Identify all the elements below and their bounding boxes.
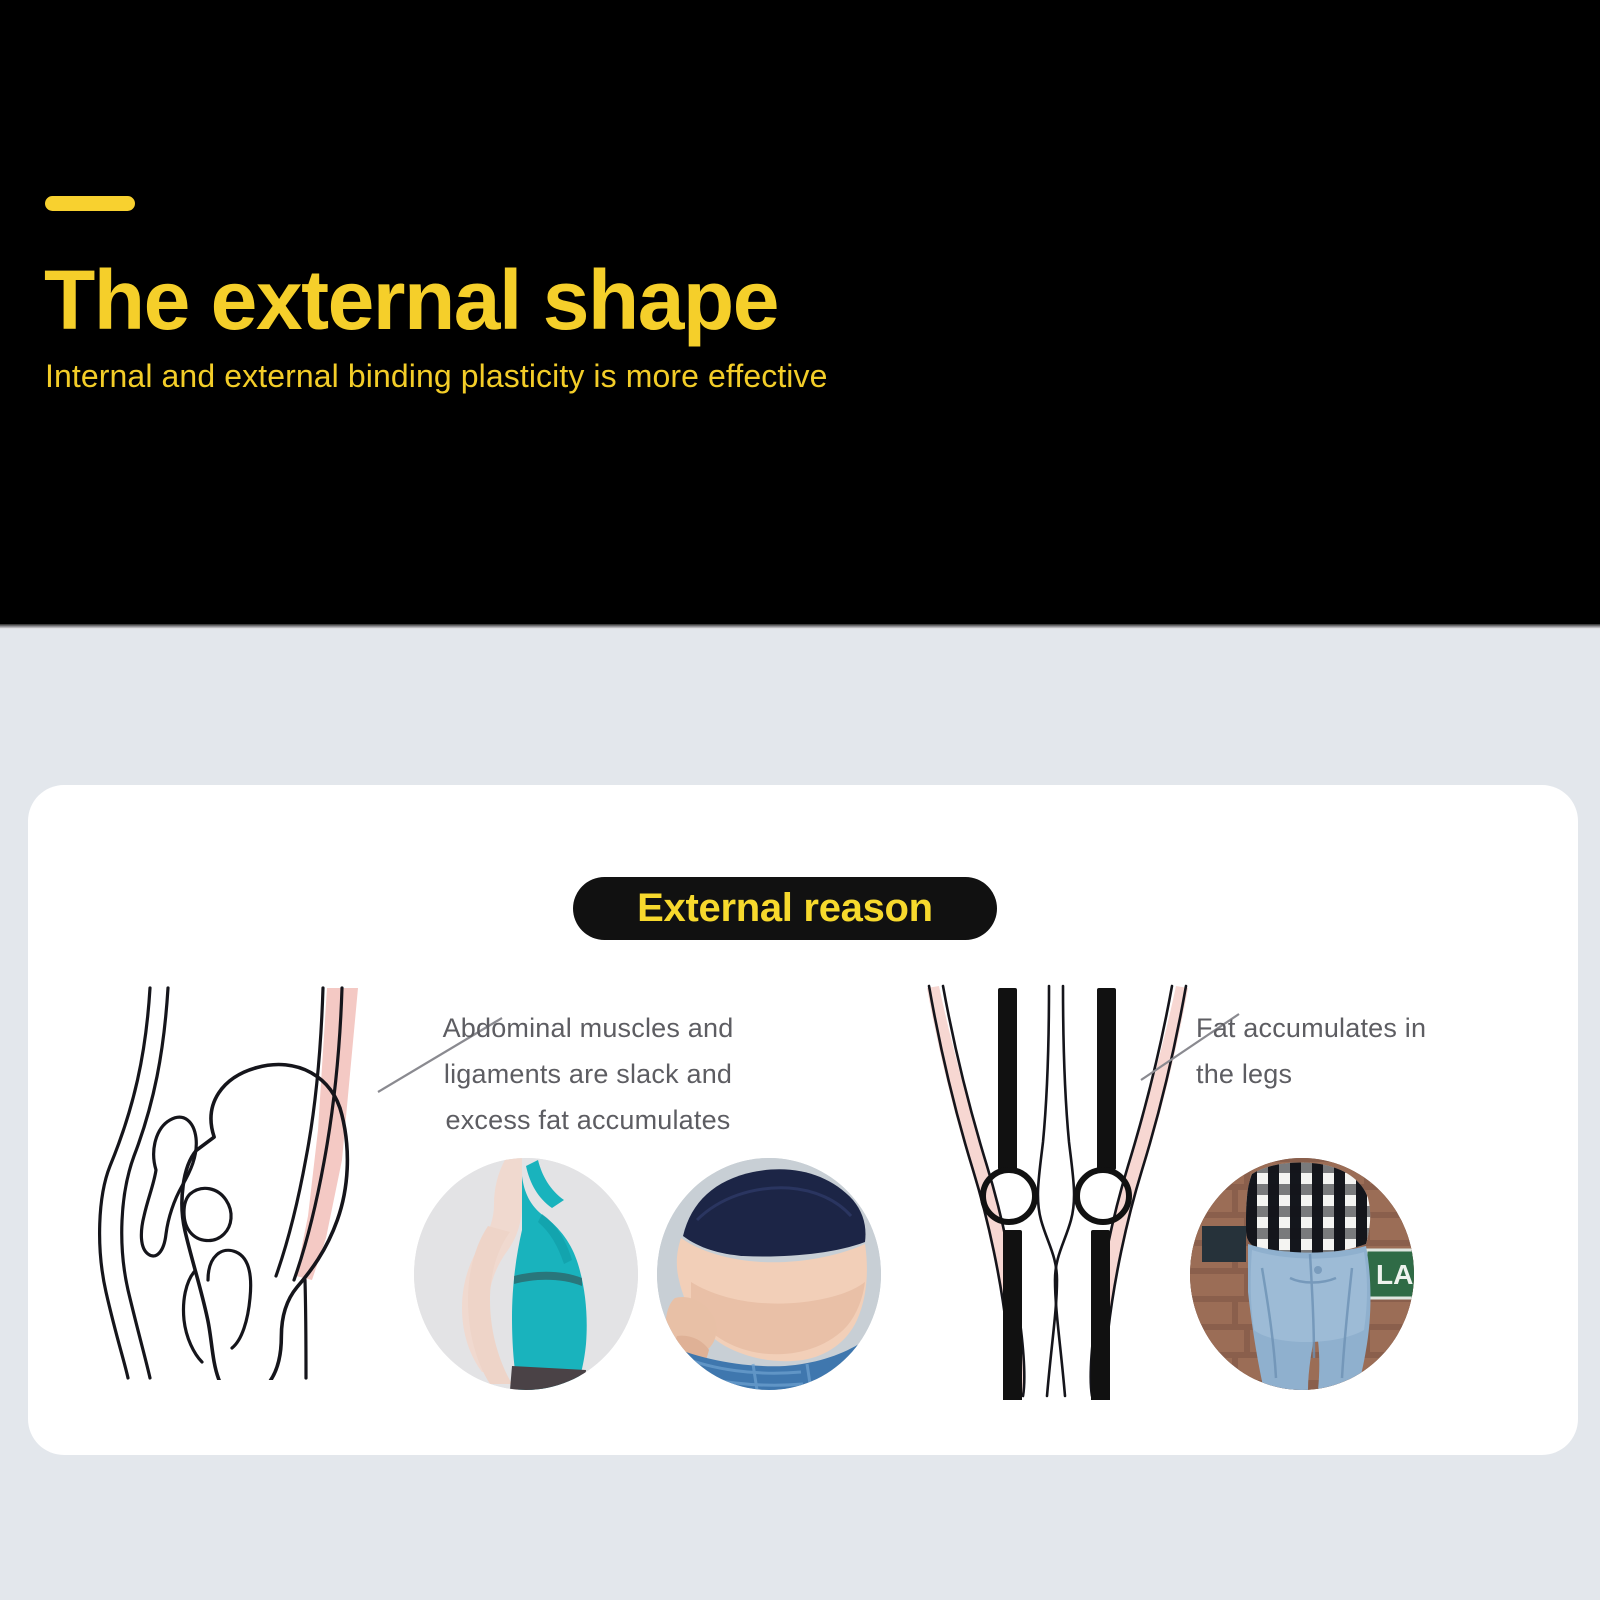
caption-line: ligaments are slack and — [388, 1051, 788, 1097]
street-sign: LA — [1366, 1250, 1414, 1298]
caption-line: the legs — [1196, 1051, 1526, 1097]
section-badge: External reason — [573, 877, 997, 940]
caption-abdomen: Abdominal muscles and ligaments are slac… — [388, 1005, 788, 1143]
hero-banner: The external shape Internal and external… — [0, 0, 1600, 628]
photo-legs-in-jeans: LA — [1190, 1158, 1414, 1390]
hero-divider — [0, 624, 1600, 629]
caption-line: excess fat accumulates — [388, 1097, 788, 1143]
page-subtitle: Internal and external binding plasticity… — [45, 358, 828, 395]
caption-line: Fat accumulates in — [1196, 1005, 1526, 1051]
pelvis-diagram-icon — [90, 980, 410, 1380]
page-title: The external shape — [44, 258, 778, 342]
accent-rule-icon — [45, 196, 135, 211]
svg-text:LA: LA — [1376, 1259, 1413, 1290]
photo-belly-side-profile — [414, 1158, 638, 1390]
page-root: The external shape Internal and external… — [0, 0, 1600, 1600]
caption-legs: Fat accumulates in the legs — [1196, 1005, 1526, 1097]
photo-belly-close-up — [657, 1158, 881, 1390]
caption-line: Abdominal muscles and — [388, 1005, 788, 1051]
section-badge-label: External reason — [637, 886, 933, 931]
